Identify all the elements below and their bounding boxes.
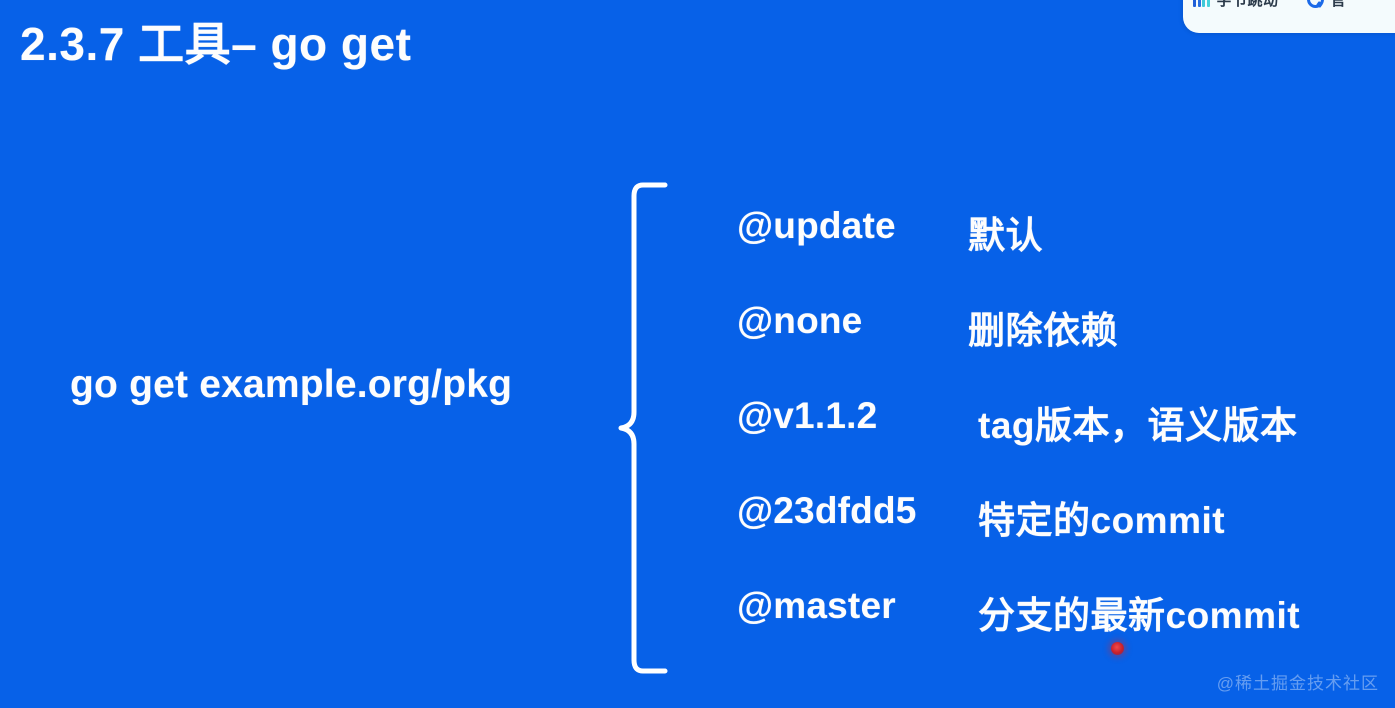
bar-chart-icon — [1193, 0, 1210, 7]
list-item: @update 默认 — [737, 205, 1377, 300]
suffix-list: @update 默认 @none 删除依赖 @v1.1.2 tag版本，语义版本… — [737, 205, 1377, 680]
suffix-key: @none — [737, 300, 862, 342]
suffix-desc: 特定的commit — [978, 490, 1225, 544]
suffix-key: @update — [737, 205, 896, 247]
suffix-desc: 分支的最新commit — [978, 585, 1300, 639]
list-item: @master 分支的最新commit — [737, 585, 1377, 680]
overlay-badge[interactable]: 字节跳动 官 — [1183, 0, 1395, 33]
suffix-key: @v1.1.2 — [737, 395, 877, 437]
q-circle-icon — [1307, 0, 1324, 8]
command-text: go get example.org/pkg — [70, 363, 512, 407]
suffix-key: @23dfdd5 — [737, 490, 917, 532]
slide-canvas: 2.3.7 工具– go get go get example.org/pkg … — [0, 0, 1395, 708]
suffix-key: @master — [737, 585, 896, 627]
suffix-desc: 删除依赖 — [968, 300, 1118, 354]
red-pointer-dot — [1111, 642, 1124, 655]
left-curly-brace-icon — [603, 180, 673, 676]
suffix-desc: 默认 — [968, 205, 1043, 259]
list-item: @23dfdd5 特定的commit — [737, 490, 1377, 585]
list-item: @none 删除依赖 — [737, 300, 1377, 395]
page-title: 2.3.7 工具– go get — [20, 18, 411, 71]
list-item: @v1.1.2 tag版本，语义版本 — [737, 395, 1377, 490]
overlay-badge-label: 字节跳动 — [1217, 0, 1279, 10]
suffix-desc: tag版本，语义版本 — [978, 395, 1298, 449]
watermark: @稀土掘金技术社区 — [1217, 669, 1379, 694]
overlay-badge-label-2: 官 — [1331, 0, 1346, 10]
